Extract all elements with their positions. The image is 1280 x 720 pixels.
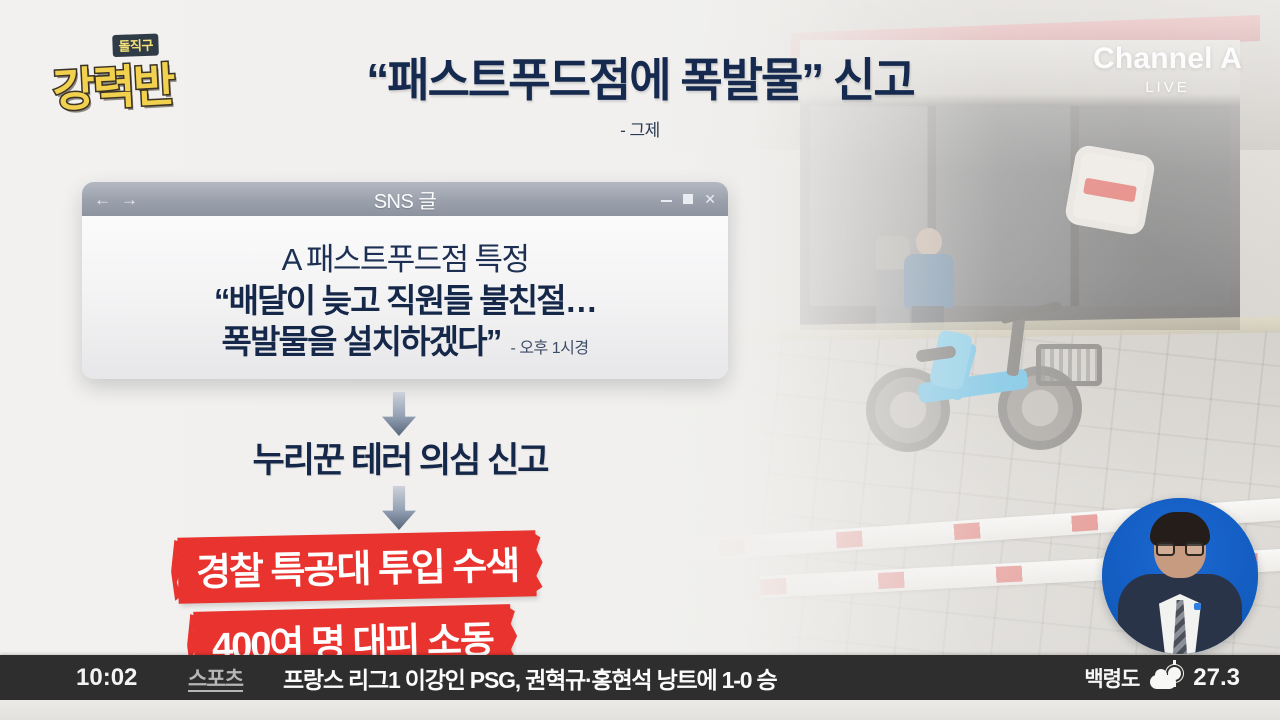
sns-line-1: A 패스트푸드점 특정 [108,234,702,279]
back-arrow-icon[interactable]: ← [94,191,111,208]
page-title: “패스트푸드점에 폭발물” 신고 [300,44,980,110]
sns-window-nav: ← → [94,191,138,208]
channel-name: Channel A [1093,42,1242,76]
ticker-headline: 프랑스 리그1 이강인 PSG, 권혁규·홍현석 낭트에 1-0 승 [283,661,1084,695]
sns-window-body: A 패스트푸드점 특정 “배달이 늦고 직원들 불친절… 폭발물을 설치하겠다”… [82,216,728,379]
forward-arrow-icon[interactable]: → [121,191,138,208]
weather-region: 백령도 [1084,663,1139,693]
show-logo: 돌직구 강력반 [50,29,234,116]
anchor-hair [1150,512,1210,546]
sns-window-controls: ✕ [661,191,716,208]
close-icon[interactable]: ✕ [704,191,716,208]
minimize-icon[interactable] [661,200,672,202]
news-ticker-bar: 10:02 스포츠 프랑스 리그1 이강인 PSG, 권혁규·홍현석 낭트에 1… [0,655,1280,700]
sns-post-window: ← → SNS 글 ✕ A 패스트푸드점 특정 “배달이 늦고 직원들 불친절…… [82,182,728,379]
sns-line-3-row: 폭발물을 설치하겠다” - 오후 1시경 [108,322,702,363]
sns-line-2: “배달이 늦고 직원들 불친절… [108,281,702,322]
channel-logo: Channel A LIVE [1093,42,1242,96]
sns-window-titlebar: ← → SNS 글 ✕ [82,182,728,216]
show-logo-title: 강력반 [51,48,175,120]
anchor-inset-circle [1102,498,1258,654]
weather-temperature: 27.3 [1193,664,1240,692]
sns-post-time: - 오후 1시경 [511,339,589,359]
ticker-clock: 10:02 [76,664,168,692]
ticker-category[interactable]: 스포츠 [188,663,243,693]
ticker-weather: 백령도 27.3 [1084,663,1240,693]
partly-cloudy-icon [1150,666,1182,690]
anchor-lapel-pin [1194,603,1201,610]
red-banner-group: 경찰 특공대 투입 수색 400여 명 대피 소동 [150,534,670,674]
maximize-icon[interactable] [683,194,693,204]
red-banner-1: 경찰 특공대 투입 수색 [177,530,537,603]
flow-middle-text: 누리꾼 테러 의심 신고 [120,432,680,483]
live-badge: LIVE [1093,79,1242,96]
sns-window-title: SNS 글 [82,185,728,214]
sns-line-3: 폭발물을 설치하겠다” [221,322,500,363]
glasses-icon [1156,542,1204,557]
headline-source: - 그제 [300,116,980,141]
broadcast-screen: 돌직구 강력반 Channel A LIVE “패스트푸드점에 폭발물” 신고 … [0,0,1280,720]
ticker-bottom-strip [0,700,1280,720]
